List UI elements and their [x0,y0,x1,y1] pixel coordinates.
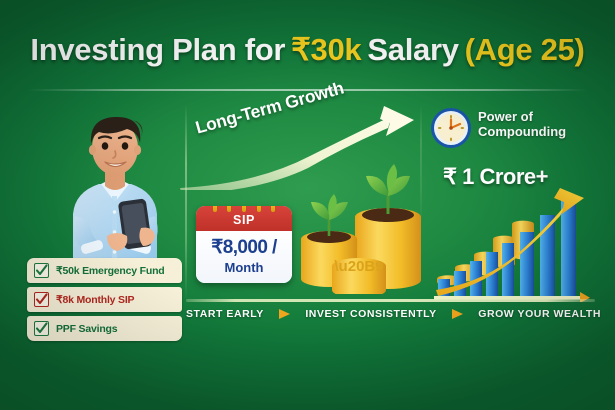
svg-text:\u20B9: \u20B9 [334,258,383,275]
step-start-early: START EARLY [186,308,264,320]
steps-divider [186,299,595,302]
coin-stack-plant-icon: \u20B9 [296,152,428,294]
check-icon[interactable] [34,292,49,307]
check-icon[interactable] [34,263,49,278]
checklist: ₹50k Emergency Fund ₹8k Monthly SIP PPF … [27,258,182,341]
compounding-line-2: Compounding [478,125,566,140]
step-invest-consistently: INVEST CONSISTENTLY [305,308,436,320]
sip-amount: ₹8,000 / [200,236,288,259]
title-salary-amount: ₹30k [291,32,361,67]
checklist-item-label: PPF Savings [56,323,117,335]
checklist-item-emergency-fund[interactable]: ₹50k Emergency Fund [27,258,182,283]
checklist-item-monthly-sip[interactable]: ₹8k Monthly SIP [27,287,182,312]
triangle-right-icon [279,309,290,319]
sip-card-body: ₹8,000 / Month [196,231,292,283]
infographic-poster: Investing Plan for₹30kSalary(Age 25) [0,0,615,410]
compounding-label: Power of Compounding [478,110,566,139]
step-grow-your-wealth: GROW YOUR WEALTH [478,308,601,320]
checklist-item-ppf-savings[interactable]: PPF Savings [27,316,182,341]
title-part-1: Investing Plan for [30,32,285,67]
compounding-line-1: Power of [478,110,566,125]
calendar-rings [196,206,292,212]
clock-icon [429,106,473,150]
sip-period: Month [200,260,288,275]
triangle-right-icon [452,309,463,319]
checklist-item-label: ₹50k Emergency Fund [56,265,165,277]
sip-calendar-card[interactable]: SIP ₹8,000 / Month [196,206,292,283]
title-age: (Age 25) [465,32,585,67]
page-title: Investing Plan for₹30kSalary(Age 25) [0,32,615,68]
title-part-2: Salary [367,32,458,67]
checklist-item-label: ₹8k Monthly SIP [56,294,134,306]
compounding-bar-chart [432,186,592,302]
person-illustration [45,96,185,271]
check-icon[interactable] [34,321,49,336]
steps-strip: START EARLY INVEST CONSISTENTLY GROW YOU… [186,308,601,320]
